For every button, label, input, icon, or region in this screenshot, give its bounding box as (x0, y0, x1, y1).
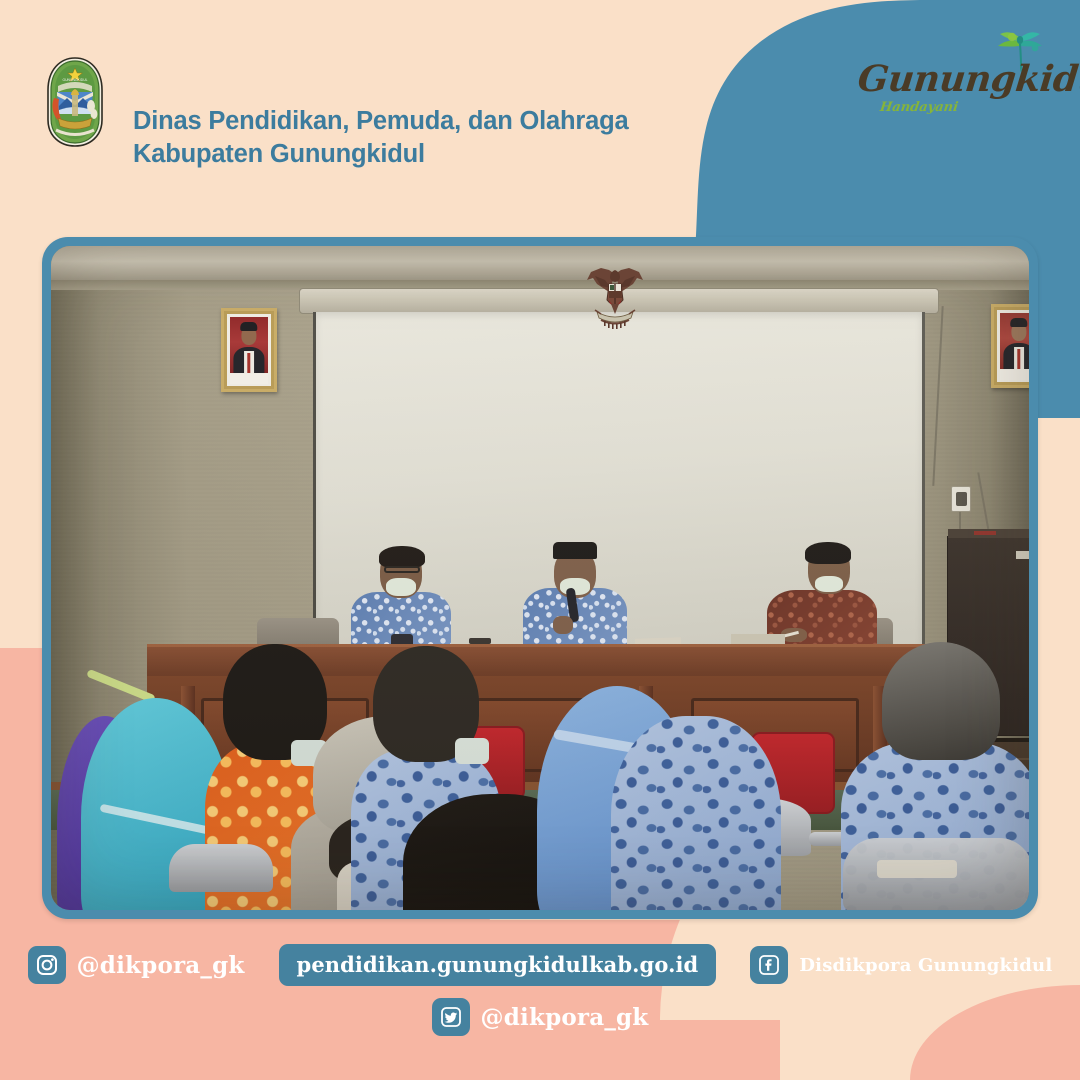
twitter-link[interactable]: @dikpora_gk (432, 998, 649, 1036)
page-header: GUNUNGKIDUL Dinas Pendidikan, Pemuda, da… (0, 0, 1080, 200)
meeting-room-photograph (51, 246, 1029, 910)
hand (553, 616, 573, 634)
peci-cap (553, 542, 597, 559)
twitter-handle: @dikpora_gk (481, 1004, 649, 1031)
svg-text:GUNUNGKIDUL: GUNUNGKIDUL (62, 78, 87, 82)
vice-president-portrait (991, 304, 1029, 388)
president-portrait (221, 308, 277, 392)
footer-row-primary: @dikpora_gk pendidikan.gunungkidulkab.go… (0, 944, 1080, 986)
ceiling-beam (51, 246, 1029, 282)
head-gray-hair (882, 642, 1000, 760)
face-mask (386, 578, 416, 596)
instagram-icon[interactable] (28, 946, 66, 984)
attendee-hijab-blue-2 (611, 716, 781, 910)
eyeglasses-icon (384, 566, 420, 573)
hair (805, 542, 851, 564)
page-title: Dinas Pendidikan, Pemuda, dan Olahraga K… (133, 72, 628, 204)
chair-back-left (169, 844, 273, 892)
facebook-page-name: Disdikpora Gunungkidul (799, 955, 1052, 976)
face-mask (815, 576, 843, 592)
org-title-line1: Dinas Pendidikan, Pemuda, dan Olahraga (133, 107, 628, 135)
wall-socket-icon (951, 486, 971, 512)
regency-crest-icon: GUNUNGKIDUL (44, 56, 106, 148)
social-footer: @dikpora_gk pendidikan.gunungkidulkab.go… (0, 930, 1080, 1080)
face-mask-strap (455, 738, 489, 764)
gunungkidul-brand-logo: Gunungkidul Handayani (858, 28, 1058, 124)
brand-tagline: Handayani (879, 100, 959, 115)
garuda-pancasila-emblem (579, 258, 651, 330)
facebook-icon[interactable] (750, 946, 788, 984)
twitter-icon[interactable] (432, 998, 470, 1036)
chair-label (877, 860, 957, 878)
instagram-handle: @dikpora_gk (77, 952, 245, 979)
footer-row-secondary: @dikpora_gk (0, 998, 1080, 1036)
org-title-line2: Kabupaten Gunungkidul (133, 138, 628, 171)
brand-wordmark: Gunungkidul (856, 58, 1060, 100)
hair (379, 546, 425, 568)
facebook-link[interactable]: Disdikpora Gunungkidul (750, 946, 1052, 984)
instagram-link[interactable]: @dikpora_gk (28, 946, 245, 984)
website-url[interactable]: pendidikan.gunungkidulkab.go.id (279, 944, 717, 986)
photo-frame (42, 237, 1038, 919)
